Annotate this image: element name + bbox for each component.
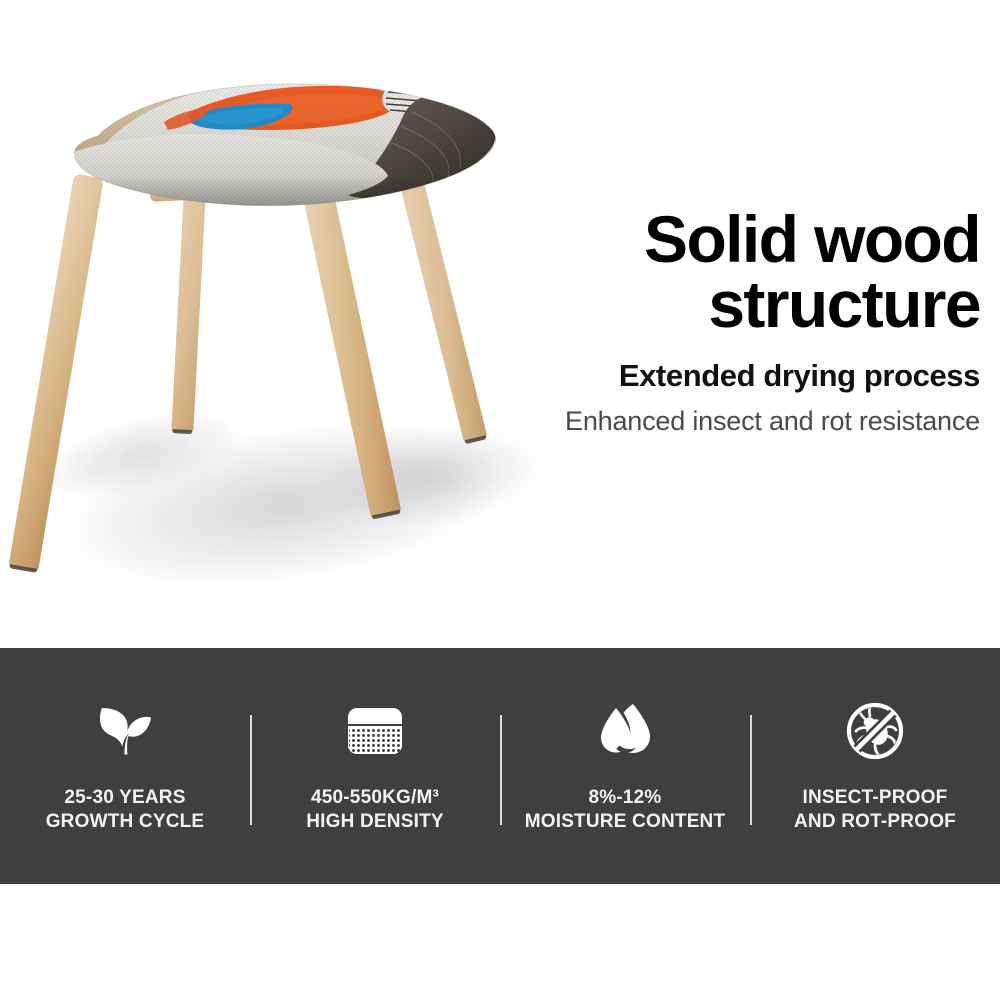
sprout-leaf-icon — [94, 700, 156, 762]
feature-label-growth-cycle: 25-30 YEARS GROWTH CYCLE — [46, 786, 205, 834]
feature-label-line-2: GROWTH CYCLE — [46, 810, 205, 834]
chair-seat-illustration — [40, 78, 500, 213]
feature-label-line-1: 25-30 YEARS — [64, 787, 185, 808]
marketing-banner: Solid wood structure Extended drying pro… — [0, 0, 1000, 1000]
subtitle: Extended drying process — [520, 359, 980, 393]
feature-item-growth-cycle: 25-30 YEARS GROWTH CYCLE — [0, 648, 250, 884]
feature-label-line-1: 8%-12% — [588, 787, 661, 808]
feature-label-line-1: INSECT-PROOF — [803, 787, 948, 808]
tagline: Enhanced insect and rot resistance — [520, 407, 980, 437]
feature-label-insect-proof: INSECT-PROOF AND ROT-PROOF — [794, 786, 956, 834]
feature-item-moisture-content: 8%-12% MOISTURE CONTENT — [500, 648, 750, 884]
feature-label-line-2: AND ROT-PROOF — [794, 810, 956, 834]
feature-label-line-2: MOISTURE CONTENT — [525, 810, 726, 834]
page-title-line-1: Solid wood — [520, 208, 980, 271]
feature-label-high-density: 450-550KG/M³ HIGH DENSITY — [306, 786, 444, 834]
feature-bar: 25-30 YEARS GROWTH CYCLE — [0, 648, 1000, 884]
feature-label-moisture-content: 8%-12% MOISTURE CONTENT — [525, 786, 726, 834]
product-photo — [0, 0, 560, 648]
page-title-line-2: structure — [520, 273, 980, 336]
chair-seat — [40, 78, 500, 213]
headline-block: Solid wood structure Extended drying pro… — [520, 208, 980, 437]
feature-item-insect-proof: INSECT-PROOF AND ROT-PROOF — [750, 648, 1000, 884]
feature-label-line-2: HIGH DENSITY — [306, 810, 444, 834]
water-droplets-icon — [595, 700, 655, 762]
feature-label-line-1: 450-550KG/M³ — [311, 787, 439, 808]
density-foam-icon — [346, 700, 404, 762]
feature-item-high-density: 450-550KG/M³ HIGH DENSITY — [250, 648, 500, 884]
no-insect-icon — [845, 700, 905, 762]
